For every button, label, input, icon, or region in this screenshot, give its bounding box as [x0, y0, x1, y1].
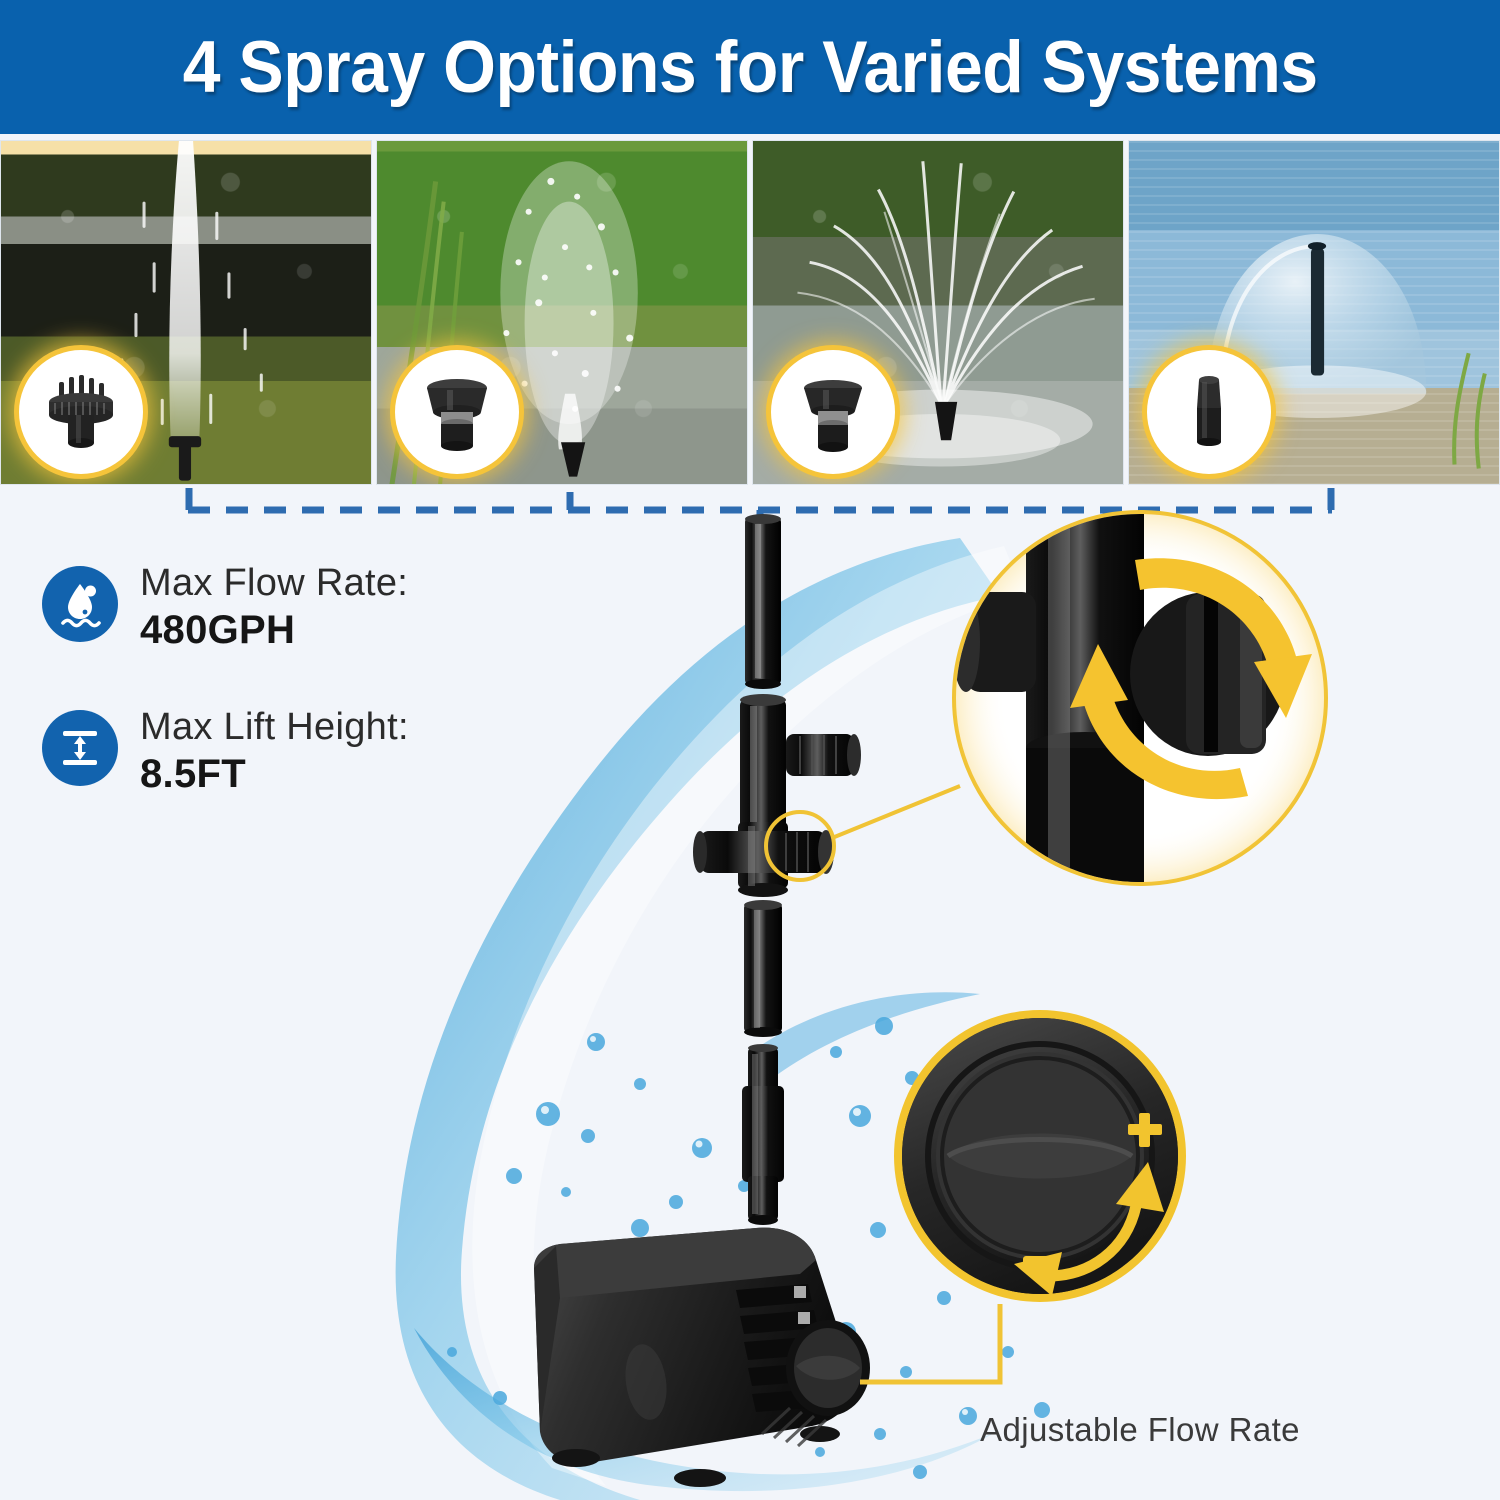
callout-knob	[860, 1010, 1186, 1382]
spray-photo-2[interactable]	[376, 140, 748, 485]
nozzle-badge-2	[395, 350, 519, 474]
valve-leader-line	[832, 786, 960, 838]
callout-valve	[766, 486, 1326, 908]
pump-flow-knob	[786, 1320, 870, 1416]
spray-photo-3[interactable]	[752, 140, 1124, 485]
spray-option-photo-strip	[0, 140, 1500, 485]
mushroom-spray-nozzle-icon	[411, 366, 503, 458]
callout-caption-adjustable-flow: Adjustable Flow Rate	[975, 1411, 1305, 1449]
wide-spray-nozzle-icon	[787, 366, 879, 458]
knob-leader-line	[860, 1304, 1000, 1382]
header-banner: 4 Spray Options for Varied Systems	[0, 0, 1500, 134]
page-title: 4 Spray Options for Varied Systems	[183, 26, 1318, 109]
spray-photo-1[interactable]	[0, 140, 372, 485]
bell-dome-nozzle-icon	[1163, 366, 1255, 458]
riser-tube-middle	[744, 900, 782, 1037]
product-scene	[0, 486, 1500, 1500]
knob-magnifier	[894, 1010, 1186, 1302]
nozzle-badge-3	[771, 350, 895, 474]
flow-control-valve	[693, 822, 834, 897]
multi-jet-crown-nozzle-icon	[35, 366, 127, 458]
infographic-page: 4 Spray Options for Varied Systems	[0, 0, 1500, 1500]
nozzle-badge-1	[19, 350, 143, 474]
product-illustration-layer: Adjustable Flow Rate	[0, 486, 1500, 1500]
spray-photo-4[interactable]	[1128, 140, 1500, 485]
nozzle-badge-4	[1147, 350, 1271, 474]
riser-tube-lower	[742, 1044, 784, 1225]
riser-tube-top	[745, 514, 781, 689]
